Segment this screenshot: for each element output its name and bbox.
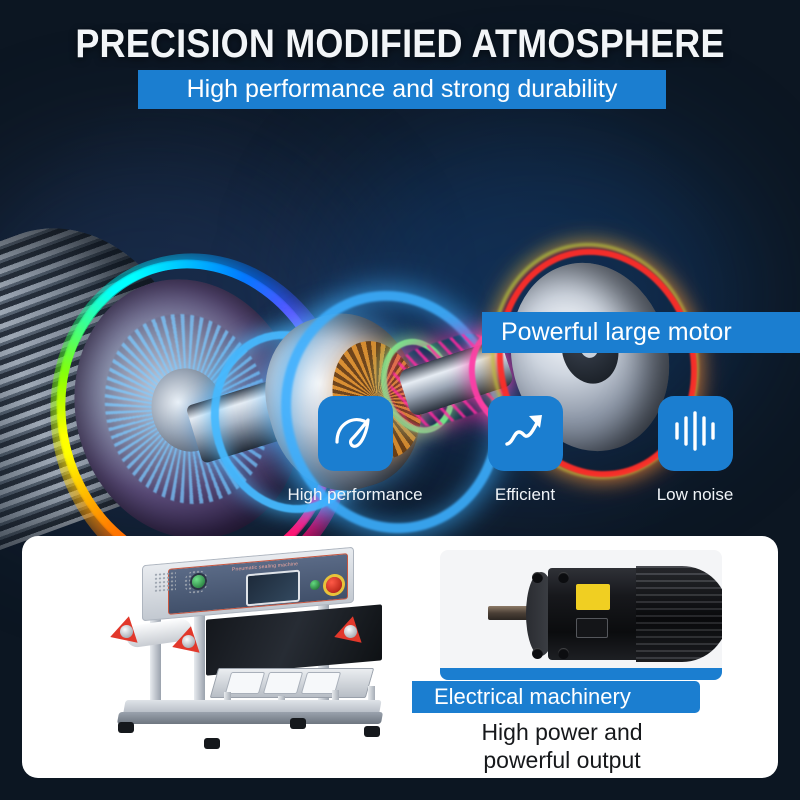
machine-roll-hub [174,626,202,654]
machine-foot [290,718,306,729]
subtitle-text: High performance and strong durability [187,76,618,103]
gauge-icon-tile [318,396,393,471]
subtitle-banner: High performance and strong durability [138,70,666,109]
electrical-machinery-label: Electrical machinery [412,685,631,709]
trending-up-arrow-icon-tile [488,396,563,471]
machine-display-screen [246,570,300,607]
machine-foot [118,722,134,733]
machine-roll-hub-center [120,625,133,638]
caption-line-1: High power and [412,718,712,746]
motor-callout-banner: Powerful large motor [482,312,800,353]
feature-item-low-noise: Low noise [610,396,780,521]
motor-bolt [558,572,569,583]
sound-wave-icon [671,407,719,460]
motor-bolt [532,648,543,659]
motor-yellow-label [576,584,610,610]
motor-bolt [532,572,543,583]
machine-tray-cell [263,672,303,694]
feature-label: High performance [287,485,422,504]
machine-base-plate-side [117,712,383,724]
machine-roll-hub-center [182,635,195,648]
machine-roll-hub-center [344,625,357,638]
machine-roll-hub [336,616,364,644]
machine-vent-grid [154,571,176,593]
machine-tray-cell [225,672,265,694]
feature-label: Low noise [657,485,734,504]
pneumatic-sealing-machine-photo: Pneumatic sealing machine [82,550,412,765]
machine-foot [204,738,220,749]
feature-item-high-performance: High performance [270,396,440,521]
page-title: PRECISION MODIFIED ATMOSPHERE [40,22,760,66]
feature-list: High performance Efficient [270,396,780,521]
machine-roll-hub [112,616,140,644]
product-photo-panel: Pneumatic sealing machine [22,536,778,778]
motor-bolt [558,648,569,659]
gauge-icon [331,407,379,460]
motor-black-label [576,618,608,638]
electrical-machinery-caption: High power and powerful output [412,718,712,774]
motor-callout-label: Powerful large motor [482,319,732,346]
trending-up-arrow-icon [501,407,549,460]
machine-foot [364,726,380,737]
feature-item-efficient: Efficient [440,396,610,521]
sound-wave-icon-tile [658,396,733,471]
motor-barrel [636,566,722,662]
gear-motor-photo [440,550,722,680]
electrical-machinery-banner: Electrical machinery [412,681,700,713]
caption-line-2: powerful output [412,746,712,774]
promo-banner: PRECISION MODIFIED ATMOSPHERE High perfo… [0,0,800,800]
feature-label: Efficient [495,485,555,504]
motor-photo-blue-bar [440,668,722,680]
